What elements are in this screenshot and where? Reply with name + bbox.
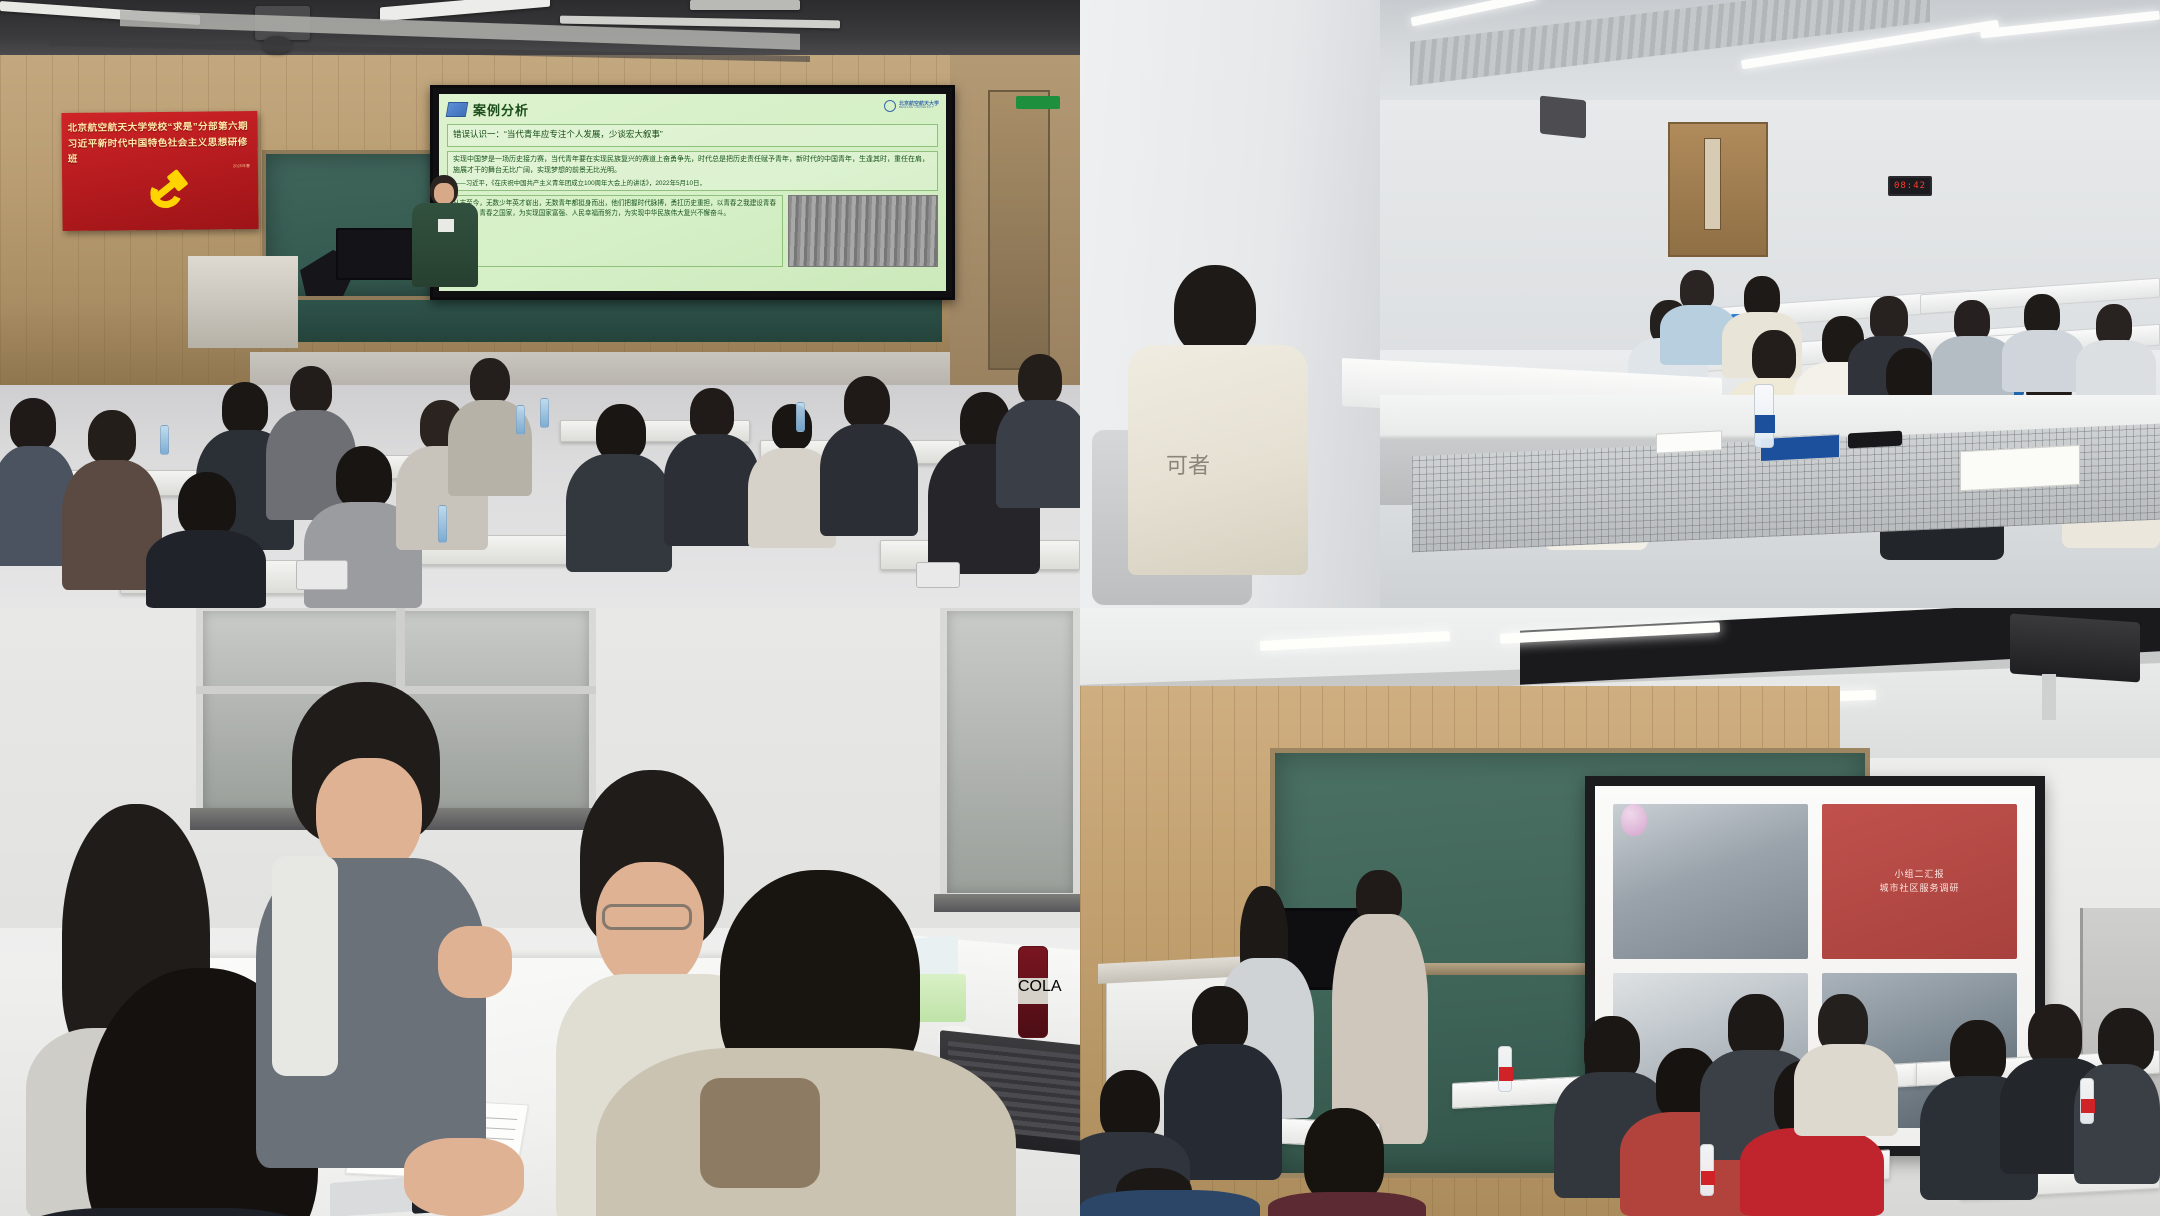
speaker-person — [412, 175, 478, 287]
wall-speaker — [1540, 96, 1586, 139]
slide-title-card: 小组二汇报 城市社区服务调研 — [1822, 804, 2017, 959]
water-bottle — [516, 405, 525, 435]
university-logo: 北京航空航天大学 BEIHANG UNIVERSITY — [884, 100, 939, 112]
student-body — [566, 454, 672, 572]
collage-panel-top-left[interactable]: 北京航空航天大学党校“求是”分部第六期 习近平新时代中国特色社会主义思想研修班 … — [0, 0, 1080, 608]
student-head — [2098, 1008, 2154, 1072]
photo-seminar-discussion: 08:42 — [1080, 0, 2160, 608]
photo-lecture-hall: 北京航空航天大学党校“求是”分部第六期 习近平新时代中国特色社会主义思想研修班 … — [0, 0, 1080, 608]
slide-title-row: 案例分析 — [447, 100, 938, 119]
student-head — [290, 366, 332, 414]
banner-line-1: 北京航空航天大学党校“求是”分部第六期 — [67, 119, 251, 137]
jacket-calligraphy: 可者 — [1166, 455, 1236, 535]
water-bottle — [796, 402, 805, 432]
student-head — [1752, 330, 1796, 382]
student-body — [146, 530, 266, 608]
red-banner: 北京航空航天大学党校“求是”分部第六期 习近平新时代中国特色社会主义思想研修班 … — [61, 111, 258, 231]
water-bottle — [1498, 1046, 1512, 1092]
student-head — [772, 404, 812, 450]
water-bottle — [540, 398, 549, 428]
slide-card-line-1: 小组二汇报 — [1894, 869, 1944, 879]
student-body — [1740, 1128, 1884, 1216]
student-hand — [404, 1138, 524, 1216]
student-head — [1100, 1070, 1160, 1140]
water-bottle — [438, 505, 447, 543]
student-body — [820, 424, 918, 536]
book-icon — [446, 102, 469, 117]
ceiling-light-4 — [690, 0, 800, 10]
projection-screen: 北京航空航天大学 BEIHANG UNIVERSITY 案例分析 错误认识一：“… — [430, 85, 955, 300]
lectern-monitor — [336, 228, 414, 280]
student-head — [88, 410, 136, 464]
water-bottle — [1754, 384, 1774, 448]
student-head — [1304, 1108, 1384, 1202]
student-hand — [438, 926, 512, 998]
logo-mark-icon — [884, 100, 896, 112]
student-head — [690, 388, 734, 438]
photo-collage: 北京航空航天大学党校“求是”分部第六期 习近平新时代中国特色社会主义思想研修班 … — [0, 0, 2160, 1216]
chalkboard-lower — [262, 300, 942, 342]
room-door — [988, 90, 1050, 370]
hammer-and-sickle-icon — [144, 170, 190, 212]
student-head — [844, 376, 890, 428]
student-head — [2028, 1004, 2082, 1066]
projector-mount — [2042, 674, 2056, 720]
student-head — [1728, 994, 1784, 1058]
slide-paragraph-2: 从古至今，无数少年英才崭出，无数青年都挺身而出，他们把握时代脉搏，勇扛历史重担，… — [447, 195, 783, 267]
slide-paragraph-box: 实现中国梦是一场历史接力赛，当代青年要在实现民族复兴的赛道上奋勇争先，时代总是把… — [447, 151, 938, 191]
water-bottle — [2080, 1078, 2094, 1124]
student-body — [996, 400, 1080, 508]
slide-lower-row: 从古至今，无数少年英才崭出，无数青年都挺身而出，他们把握时代脉搏，勇扛历史重担，… — [447, 195, 938, 267]
student-shirt-sleeve — [272, 856, 338, 1076]
student-body — [1794, 1044, 1898, 1136]
banner-small-text: 2025年春 — [233, 163, 250, 169]
water-bottle — [160, 425, 169, 455]
student-body — [2002, 330, 2084, 392]
ceiling-light-2 — [380, 0, 550, 21]
banner-line-2: 习近平新时代中国特色社会主义思想研修班 — [68, 135, 252, 168]
eyeglasses-icon — [602, 904, 692, 930]
collage-panel-bottom-left[interactable]: COLA — [0, 608, 1080, 1216]
tablet-device — [296, 560, 348, 590]
student-head — [1018, 354, 1062, 404]
slide-title: 案例分析 — [473, 100, 529, 119]
ceiling-projector — [2010, 613, 2140, 682]
student-body — [2076, 340, 2156, 402]
tablet-device — [916, 562, 960, 588]
slide-card-line-2: 城市社区服务调研 — [1879, 883, 1959, 893]
student-head — [1192, 986, 1248, 1052]
water-bottle — [1700, 1144, 1714, 1196]
slide-content: 北京航空航天大学 BEIHANG UNIVERSITY 案例分析 错误认识一：“… — [439, 94, 946, 291]
logo-sub: BEIHANG UNIVERSITY — [899, 107, 939, 110]
door-window — [1704, 138, 1721, 230]
lectern — [188, 256, 298, 348]
student-head — [1584, 1016, 1640, 1080]
slide-heading: 错误认识一：“当代青年应专注个人发展，少谈宏大叙事” — [453, 128, 932, 140]
cola-label: COLA — [1018, 978, 1048, 1004]
student-head — [596, 404, 646, 460]
window-sill — [934, 894, 1080, 912]
student-hood — [700, 1078, 820, 1188]
slide-paragraph-1: 实现中国梦是一场历史接力赛，当代青年要在实现民族复兴的赛道上奋勇争先，时代总是把… — [453, 155, 932, 176]
paper-sheet — [1960, 445, 2080, 491]
presenter-person: 可者 — [1114, 265, 1304, 605]
exit-sign — [1016, 96, 1060, 109]
digital-clock: 08:42 — [1888, 176, 1932, 196]
student-body — [664, 434, 760, 546]
student-head — [1680, 270, 1714, 310]
presenter-head — [1174, 265, 1256, 355]
student-body — [1268, 1192, 1426, 1216]
student-head — [178, 472, 236, 536]
window — [940, 608, 1080, 900]
student-head — [470, 358, 510, 404]
student-head — [1950, 1020, 2006, 1084]
smartphone — [1848, 431, 1902, 449]
name-card — [1656, 430, 1722, 453]
student-head — [10, 398, 56, 450]
student-head — [1870, 296, 1908, 340]
collage-panel-bottom-right[interactable]: 小组二汇报 城市社区服务调研 — [1080, 608, 2160, 1216]
student-head — [336, 446, 392, 508]
slide-quote-box: 错误认识一：“当代青年应专注个人发展，少谈宏大叙事” — [447, 124, 938, 147]
student-head — [222, 382, 268, 434]
photo-classroom-presentation: 小组二汇报 城市社区服务调研 — [1080, 608, 2160, 1216]
slide-source: ——习近平，《在庆祝中国共产主义青年团成立100周年大会上的讲话》，2022年5… — [453, 178, 932, 187]
banner-text: 北京航空航天大学党校“求是”分部第六期 习近平新时代中国特色社会主义思想研修班 — [67, 119, 251, 168]
photo-group-discussion: COLA — [0, 608, 1080, 1216]
clock-time: 08:42 — [1890, 178, 1930, 194]
balloon-icon — [1621, 804, 1647, 836]
student-body — [1080, 1190, 1260, 1216]
slide-relief-image — [788, 195, 938, 267]
collage-panel-top-right[interactable]: 08:42 — [1080, 0, 2160, 608]
